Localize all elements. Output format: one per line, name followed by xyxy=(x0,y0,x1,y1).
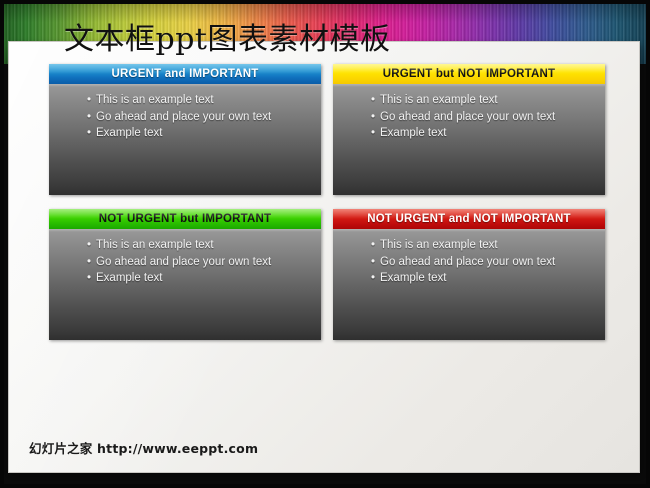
quadrant-header-not-urgent-important: NOT URGENT but IMPORTANT xyxy=(49,209,321,229)
quadrant-body-urgent-not-important[interactable]: This is an example text Go ahead and pla… xyxy=(333,84,605,195)
list-item: Go ahead and place your own text xyxy=(87,254,311,271)
quadrant-header-urgent-not-important: URGENT but NOT IMPORTANT xyxy=(333,64,605,84)
list-item: Example text xyxy=(371,125,595,142)
bullet-list: This is an example text Go ahead and pla… xyxy=(371,237,595,287)
list-item: This is an example text xyxy=(87,237,311,254)
eisenhower-matrix-grid: URGENT and IMPORTANT This is an example … xyxy=(49,64,605,360)
list-item: Example text xyxy=(371,270,595,287)
list-item: Example text xyxy=(87,270,311,287)
bullet-list: This is an example text Go ahead and pla… xyxy=(87,237,311,287)
quadrant-body-urgent-important[interactable]: This is an example text Go ahead and pla… xyxy=(49,84,321,195)
quadrant-urgent-not-important[interactable]: URGENT but NOT IMPORTANT This is an exam… xyxy=(333,64,605,195)
list-item: Example text xyxy=(87,125,311,142)
quadrant-not-urgent-not-important[interactable]: NOT URGENT and NOT IMPORTANT This is an … xyxy=(333,209,605,340)
quadrant-header-not-urgent-not-important: NOT URGENT and NOT IMPORTANT xyxy=(333,209,605,229)
quadrant-body-not-urgent-not-important[interactable]: This is an example text Go ahead and pla… xyxy=(333,229,605,340)
list-item: This is an example text xyxy=(371,237,595,254)
list-item: Go ahead and place your own text xyxy=(371,254,595,271)
quadrant-body-not-urgent-important[interactable]: This is an example text Go ahead and pla… xyxy=(49,229,321,340)
bullet-list: This is an example text Go ahead and pla… xyxy=(87,92,311,142)
list-item: Go ahead and place your own text xyxy=(371,109,595,126)
slide-footer-credit: 幻灯片之家 http://www.eeppt.com xyxy=(29,438,258,457)
list-item: Go ahead and place your own text xyxy=(87,109,311,126)
slide-title: 文本框ppt图表素材模板 xyxy=(64,21,390,59)
list-item: This is an example text xyxy=(371,92,595,109)
quadrant-not-urgent-important[interactable]: NOT URGENT but IMPORTANT This is an exam… xyxy=(49,209,321,340)
quadrant-urgent-important[interactable]: URGENT and IMPORTANT This is an example … xyxy=(49,64,321,195)
quadrant-header-urgent-important: URGENT and IMPORTANT xyxy=(49,64,321,84)
presentation-slide: 文本框ppt图表素材模板 URGENT and IMPORTANT This i… xyxy=(0,0,650,488)
list-item: This is an example text xyxy=(87,92,311,109)
bullet-list: This is an example text Go ahead and pla… xyxy=(371,92,595,142)
